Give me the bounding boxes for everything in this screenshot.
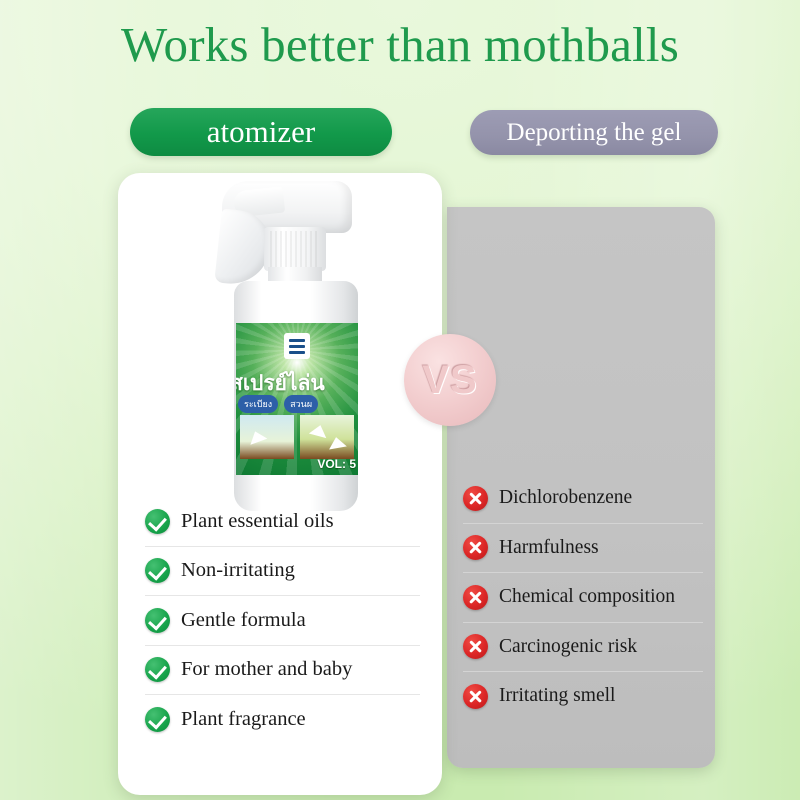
list-item: Harmfulness [463,523,703,573]
check-circle-icon [145,509,170,534]
list-item-label: Dichlorobenzene [499,487,632,509]
list-item: Dichlorobenzene [463,474,703,523]
list-item: Non-irritating [145,546,420,596]
cross-circle-icon [463,486,488,511]
list-item-label: Plant essential oils [181,510,334,533]
bottle-label-badges: ระเบียง สวนผ [236,395,358,413]
balcony-scene [240,415,294,459]
brand-logo-icon [284,333,310,359]
comparison-infographic: Works better than mothballs atomizer Dep… [0,0,800,800]
comparison-card-gel: DIE PFLANZEN FLIEHEN SICH WIR HABEN GENU… [447,207,715,768]
benefit-list: Plant essential oils Non-irritating Gent… [145,497,420,744]
list-item-label: Gentle formula [181,609,306,632]
list-item: Plant essential oils [145,497,420,546]
vs-badge-label: VS [422,358,477,403]
bird-icon [309,423,329,438]
list-item-label: Carcinogenic risk [499,636,637,658]
check-circle-icon [145,558,170,583]
list-item: Gentle formula [145,595,420,645]
bottle-label: สเปรย์ไล่น ระเบียง สวนผ VOL: 5 [236,323,358,475]
list-item: Carcinogenic risk [463,622,703,672]
list-item: Irritating smell [463,671,703,721]
list-item: For mother and baby [145,645,420,695]
tab-atomizer[interactable]: atomizer [130,108,392,156]
tab-atomizer-label: atomizer [207,114,315,150]
vs-badge: VS [404,334,496,426]
tab-deporting-the-gel[interactable]: Deporting the gel [470,110,718,155]
drawback-list: Dichlorobenzene Harmfulness Chemical com… [463,474,703,721]
page-title: Works better than mothballs [0,19,800,70]
list-item-label: For mother and baby [181,658,352,681]
bottle-collar [264,227,326,271]
list-item: Plant fragrance [145,694,420,744]
cross-circle-icon [463,684,488,709]
list-item-label: Non-irritating [181,559,295,582]
bottle-label-badge: สวนผ [284,395,318,413]
list-item-label: Plant fragrance [181,708,306,731]
bottle-label-illustration [238,415,356,459]
spray-bottle-product-image: สเปรย์ไล่น ระเบียง สวนผ VOL: 5 [198,181,388,511]
comparison-card-atomizer: สเปรย์ไล่น ระเบียง สวนผ VOL: 5 [118,173,442,795]
check-circle-icon [145,608,170,633]
cross-circle-icon [463,634,488,659]
check-circle-icon [145,707,170,732]
garden-scene [300,415,354,459]
check-circle-icon [145,657,170,682]
cross-circle-icon [463,535,488,560]
list-item: Chemical composition [463,572,703,622]
bird-icon [247,428,268,444]
bird-icon [327,436,347,450]
bottle-volume-text: VOL: 5 [317,457,356,471]
cross-circle-icon [463,585,488,610]
tab-deporting-the-gel-label: Deporting the gel [507,119,682,147]
list-item-label: Irritating smell [499,685,615,707]
bottle-label-badge: ระเบียง [238,395,278,413]
list-item-label: Harmfulness [499,537,599,559]
list-item-label: Chemical composition [499,586,675,608]
